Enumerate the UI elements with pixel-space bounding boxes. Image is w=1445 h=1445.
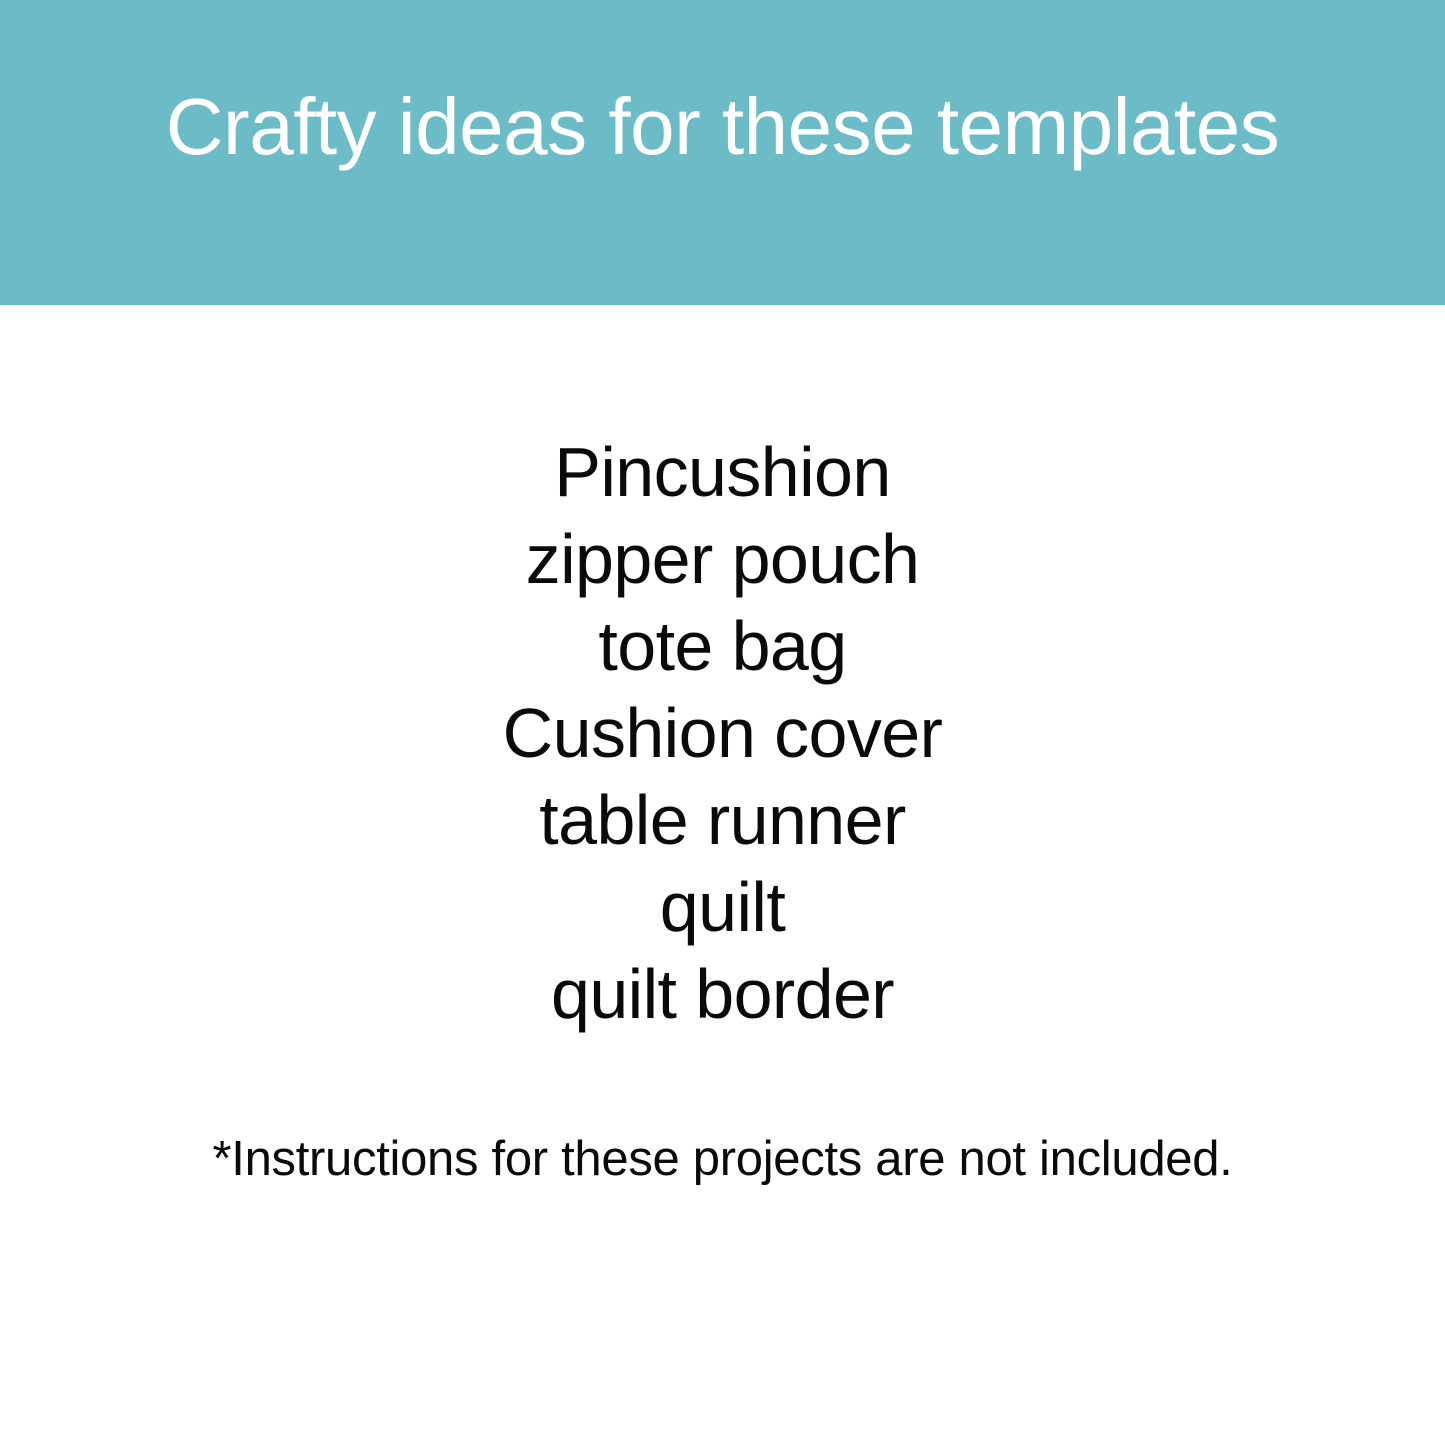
crafty-ideas-list: Pincushion zipper pouch tote bag Cushion… <box>0 429 1445 1038</box>
list-item: Pincushion <box>0 429 1445 516</box>
list-item: quilt <box>0 864 1445 951</box>
list-item: zipper pouch <box>0 516 1445 603</box>
infographic-page: Crafty ideas for these templates Pincush… <box>0 0 1445 1445</box>
body-area: Pincushion zipper pouch tote bag Cushion… <box>0 305 1445 1445</box>
page-title: Crafty ideas for these templates <box>0 0 1445 305</box>
list-item: Cushion cover <box>0 690 1445 777</box>
list-item: table runner <box>0 777 1445 864</box>
header-banner: Crafty ideas for these templates <box>0 0 1445 305</box>
list-item: tote bag <box>0 603 1445 690</box>
footnote-disclaimer: *Instructions for these projects are not… <box>0 1128 1445 1190</box>
list-item: quilt border <box>0 951 1445 1038</box>
